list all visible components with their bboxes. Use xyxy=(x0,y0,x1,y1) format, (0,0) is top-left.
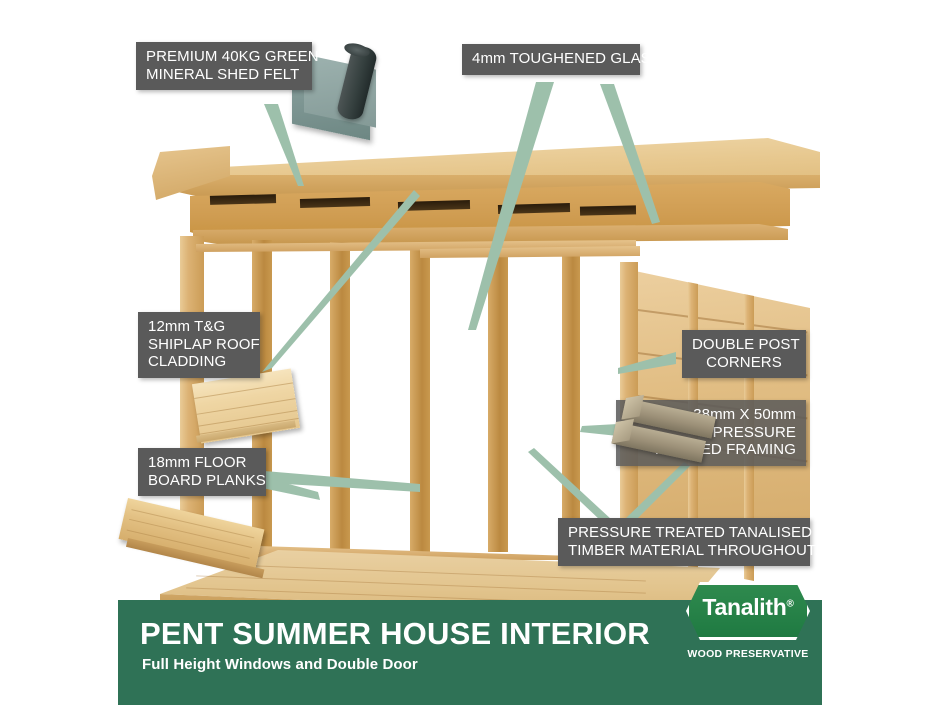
brand-name: Tanalith xyxy=(702,594,786,620)
tanalith-tagline: WOOD PRESERVATIVE xyxy=(686,648,810,660)
infographic-canvas: PREMIUM 40KG GREEN MINERAL SHED FELT 4mm… xyxy=(0,0,940,705)
timber-blocks-swatch xyxy=(610,392,722,464)
callout-roof-felt[interactable]: PREMIUM 40KG GREEN MINERAL SHED FELT xyxy=(136,42,312,90)
callout-line: TIMBER MATERIAL THROUGHOUT. xyxy=(568,542,800,560)
callout-shiplap-roof-cladding[interactable]: 12mm T&G SHIPLAP ROOF CLADDING xyxy=(138,312,260,378)
callout-line: 12mm T&G xyxy=(148,318,250,336)
callout-line: PRESSURE TREATED TANALISED xyxy=(568,524,800,542)
page-title: PENT SUMMER HOUSE INTERIOR xyxy=(140,618,650,649)
callout-line: MINERAL SHED FELT xyxy=(146,66,302,84)
shiplap-board-swatch xyxy=(196,372,301,448)
callout-floor-board-planks[interactable]: 18mm FLOOR BOARD PLANKS xyxy=(138,448,266,496)
callout-line: 18mm FLOOR xyxy=(148,454,256,472)
callout-line: SHIPLAP ROOF xyxy=(148,336,250,354)
tanalith-wordmark: Tanalith® xyxy=(686,594,810,621)
callout-tanalised-timber[interactable]: PRESSURE TREATED TANALISED TIMBER MATERI… xyxy=(558,518,810,566)
callout-line: 4mm TOUGHENED GLASS xyxy=(472,50,630,68)
registered-mark-icon: ® xyxy=(787,598,794,609)
callout-toughened-glass[interactable]: 4mm TOUGHENED GLASS xyxy=(462,44,640,75)
product-banner: PENT SUMMER HOUSE INTERIOR Full Height W… xyxy=(118,600,822,705)
callout-line: CORNERS xyxy=(692,354,796,372)
callout-line: PREMIUM 40KG GREEN xyxy=(146,48,302,66)
page-subtitle: Full Height Windows and Double Door xyxy=(142,656,418,673)
floor-plank-swatch xyxy=(128,492,276,574)
callout-line: BOARD PLANKS xyxy=(148,472,256,490)
callout-line: DOUBLE POST xyxy=(692,336,796,354)
callout-double-post-corners[interactable]: DOUBLE POST CORNERS xyxy=(682,330,806,378)
tanalith-logo: Tanalith® WOOD PRESERVATIVE xyxy=(678,582,818,678)
callout-line: CLADDING xyxy=(148,353,250,371)
